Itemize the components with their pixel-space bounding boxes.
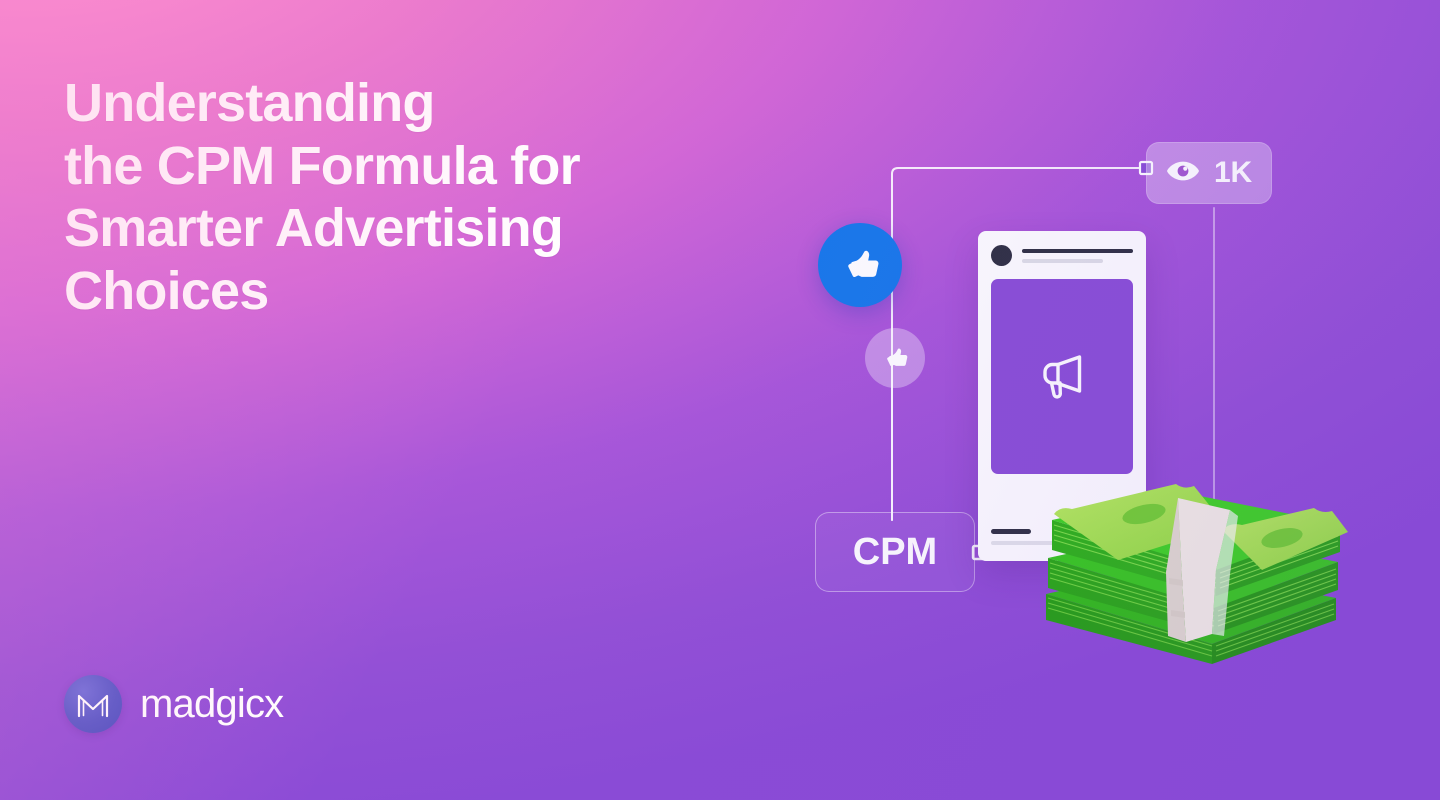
- thumbs-up-icon[interactable]: [818, 223, 902, 307]
- megaphone-icon: [1033, 345, 1091, 408]
- brand-logo[interactable]: madgicx: [64, 675, 283, 733]
- cash-stack-icon: [1026, 474, 1356, 664]
- banner-canvas: Understanding the CPM Formula for Smarte…: [0, 0, 1440, 800]
- avatar-circle-icon: [991, 245, 1012, 266]
- page-title: Understanding the CPM Formula for Smarte…: [64, 72, 764, 323]
- metric-badge-cpm[interactable]: CPM: [815, 512, 975, 592]
- post-card-header-placeholder-lines: [1022, 249, 1133, 263]
- post-card-media: [991, 279, 1133, 474]
- brand-name: madgicx: [140, 684, 283, 724]
- post-card-header: [991, 245, 1133, 266]
- eye-icon: [1166, 160, 1200, 187]
- madgicx-m-logo-icon: [64, 675, 122, 733]
- impressions-badge[interactable]: 1K: [1146, 142, 1272, 204]
- impressions-value: 1K: [1214, 156, 1252, 190]
- cpm-illustration: 1K CPM: [780, 100, 1400, 700]
- metric-badge-label: CPM: [853, 531, 937, 574]
- thumbs-up-icon-secondary[interactable]: [865, 328, 925, 388]
